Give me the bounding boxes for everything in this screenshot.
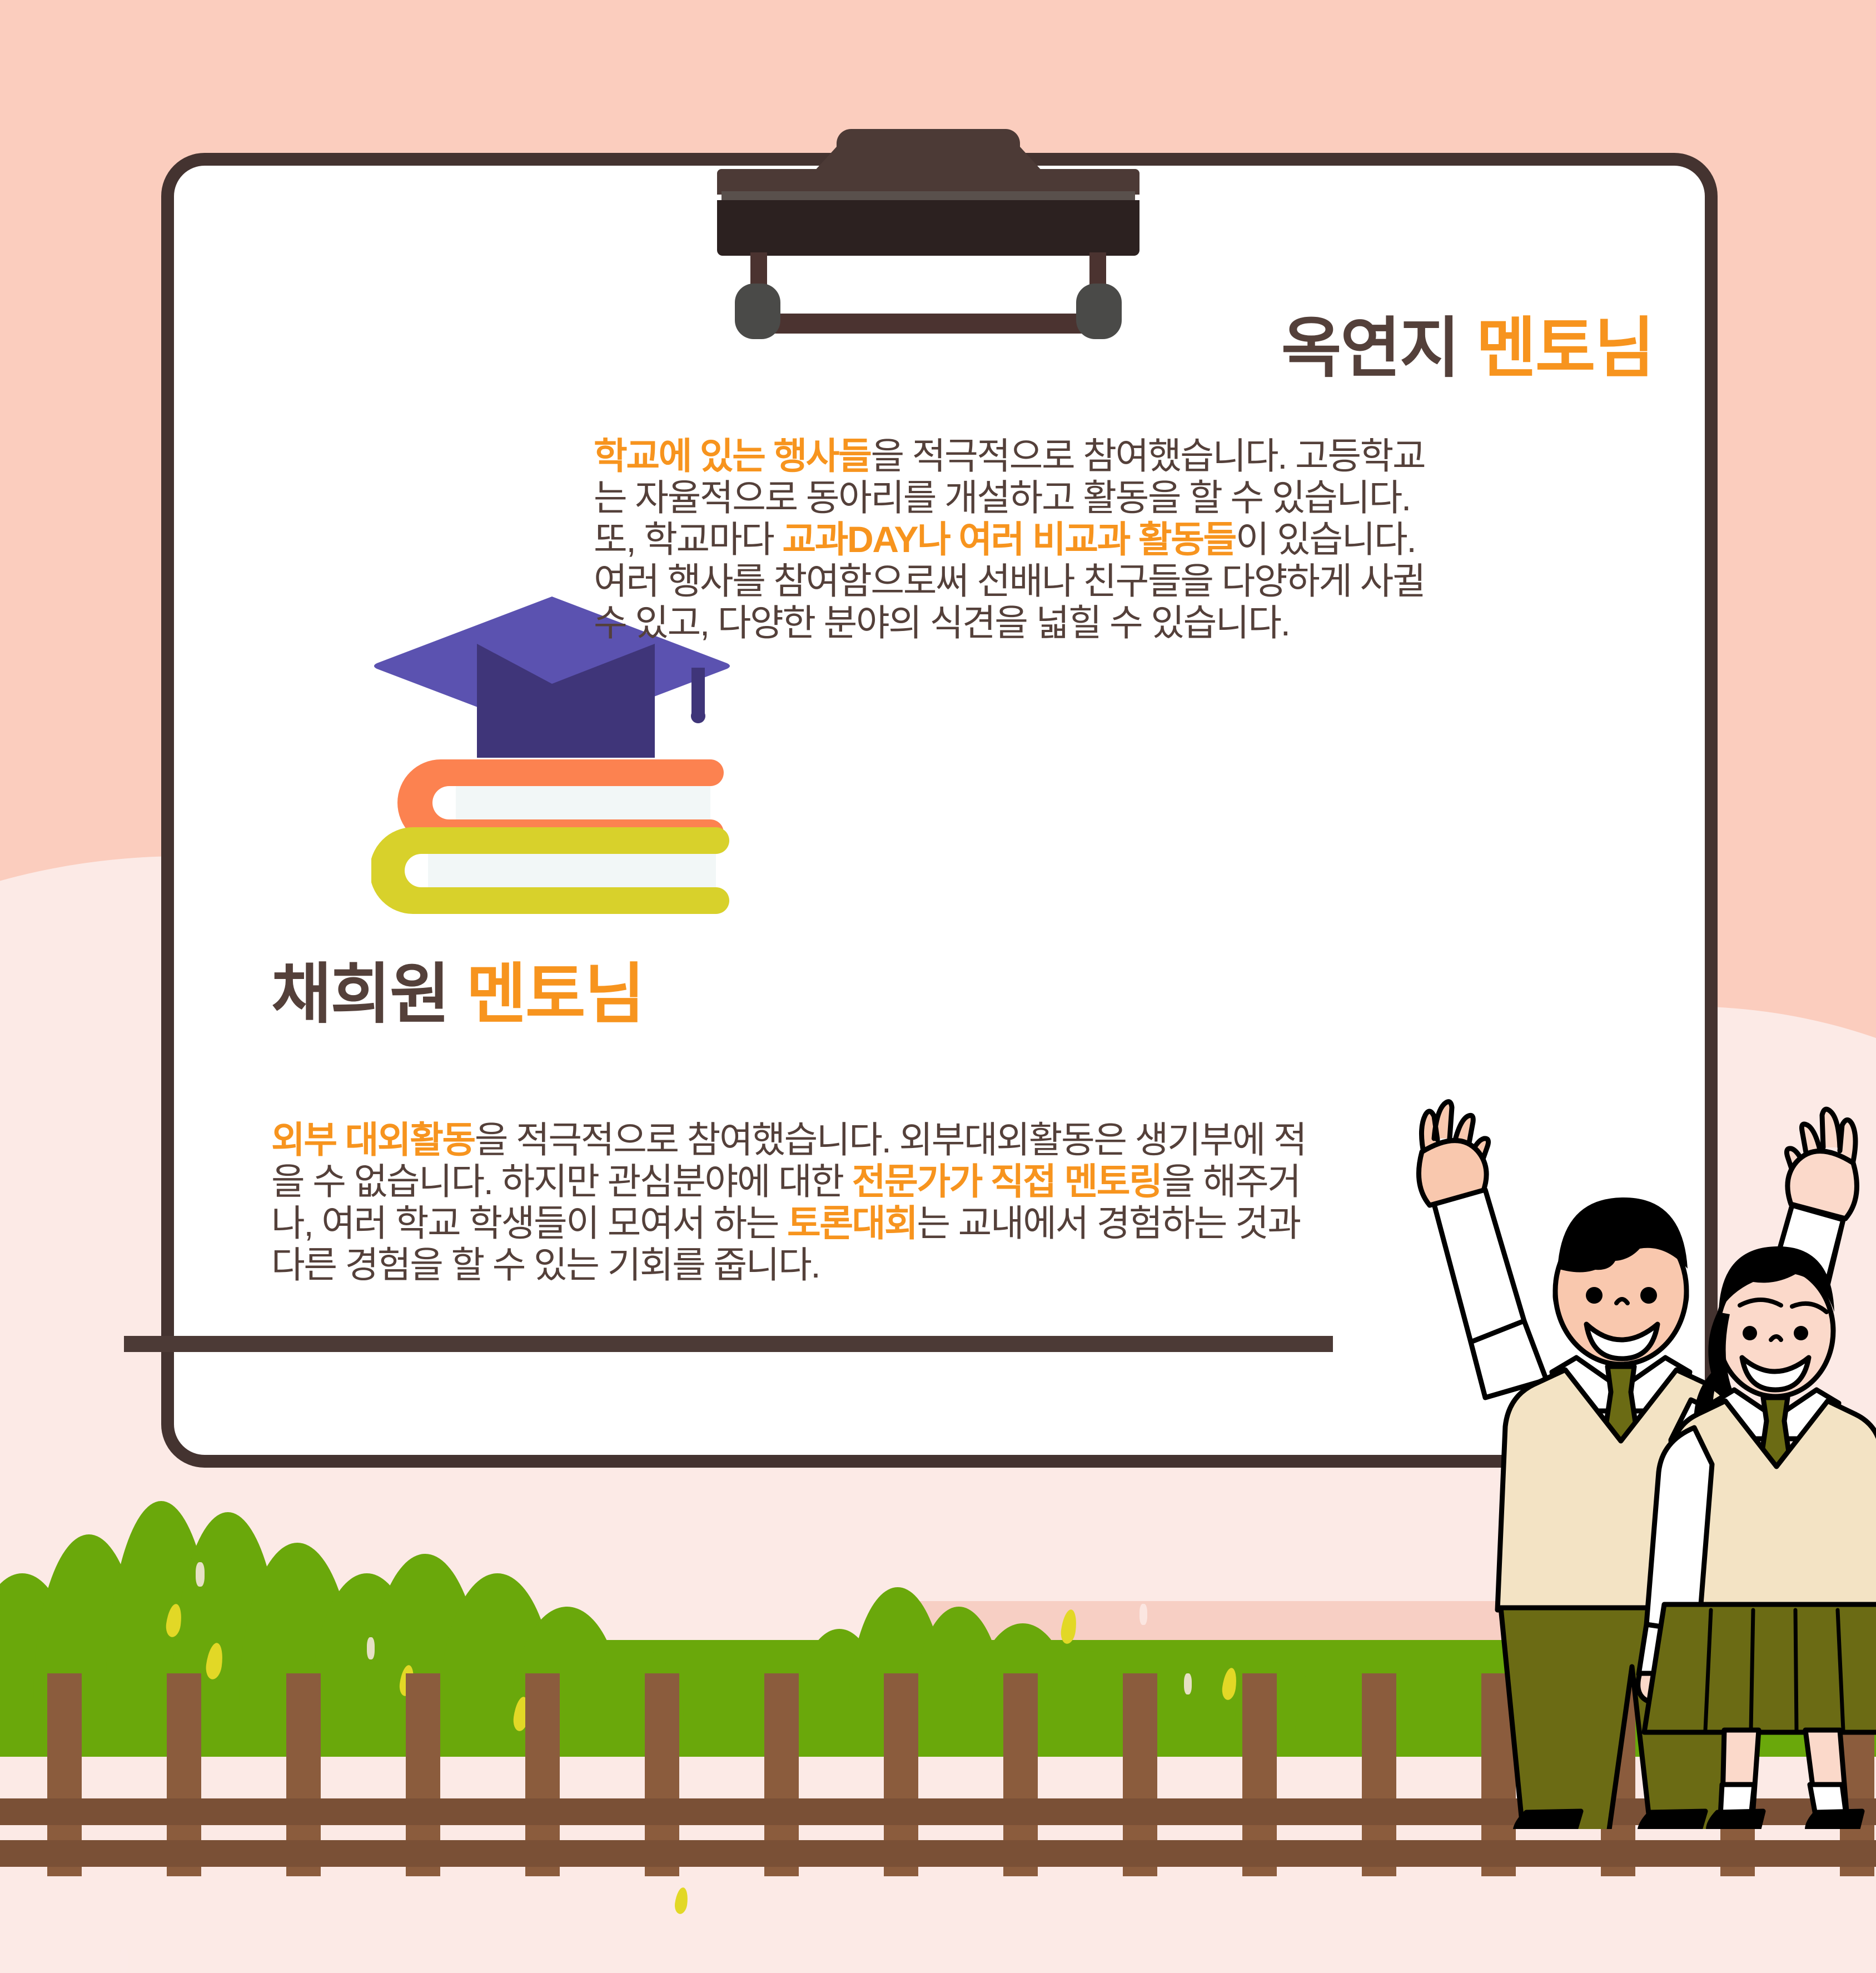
plain-text: 을 해주거: [1161, 1161, 1300, 1202]
mentor-2-title: 채희원 멘토님: [271, 962, 644, 1027]
highlighted-text: 외부 대외활동: [271, 1119, 475, 1160]
text-line: 나, 여러 학교 학생들이 모여서 하는 토론대회는 교내에서 경험하는 것과: [271, 1202, 1502, 1244]
plain-text: 는 자율적으로 동아리를 개설하고 활동을 할 수 있습니다.: [594, 477, 1410, 518]
highlighted-text: 학교에 있는 행사들: [594, 435, 870, 476]
text-line: 학교에 있는 행사들을 적극적으로 참여했습니다. 고등학교: [594, 435, 1589, 477]
mentor-1-suffix: 멘토님: [1476, 312, 1654, 385]
plain-text: 을 적극적으로 참여했습니다. 고등학교: [870, 435, 1425, 476]
text-line: 여러 행사를 참여함으로써 선배나 친구들을 다양하게 사귈: [594, 560, 1589, 602]
two-cheering-students-icon: [1351, 1073, 1876, 1829]
plain-text: 또, 학교마다: [594, 519, 782, 560]
text-line: 또, 학교마다 교과DAY나 여러 비교과 활동들이 있습니다.: [594, 519, 1589, 560]
plain-text: 여러 행사를 참여함으로써 선배나 친구들을 다양하게 사귈: [594, 560, 1425, 602]
text-line: 외부 대외활동을 적극적으로 참여했습니다. 외부대외활동은 생기부에 적: [271, 1119, 1502, 1161]
text-line: 수 있고, 다양한 분야의 식견을 넓힐 수 있습니다.: [594, 602, 1589, 644]
text-line: 다른 경험을 할 수 있는 기회를 줍니다.: [271, 1244, 1502, 1286]
highlighted-text: 토론대회: [787, 1202, 917, 1244]
mentor-1-title: 옥연지 멘토님: [1281, 316, 1654, 381]
text-line: 을 수 없습니다. 하지만 관심분야에 대한 전문가가 직접 멘토링을 해주거: [271, 1161, 1502, 1202]
clipboard-clip-icon: [717, 129, 1139, 312]
plain-text: 수 있고, 다양한 분야의 식견을 넓힐 수 있습니다.: [594, 602, 1290, 643]
mentor-2-body-text: 외부 대외활동을 적극적으로 참여했습니다. 외부대외활동은 생기부에 적을 수…: [271, 1119, 1502, 1286]
plain-text: 을 수 없습니다. 하지만 관심분야에 대한: [271, 1161, 852, 1202]
text-line: 는 자율적으로 동아리를 개설하고 활동을 할 수 있습니다.: [594, 477, 1589, 519]
highlighted-text: 교과DAY나 여러 비교과 활동들: [782, 519, 1235, 560]
mentor-2-suffix: 멘토님: [466, 958, 644, 1031]
section-divider: [124, 1336, 1333, 1352]
highlighted-text: 전문가가 직접 멘토링: [852, 1161, 1162, 1202]
mentor-2-name: 채희원: [271, 958, 449, 1031]
plain-text: 다른 경험을 할 수 있는 기회를 줍니다.: [271, 1244, 819, 1285]
mentor-1-name: 옥연지: [1281, 312, 1459, 385]
plain-text: 는 교내에서 경험하는 것과: [917, 1202, 1300, 1244]
plain-text: 을 적극적으로 참여했습니다. 외부대외활동은 생기부에 적: [475, 1119, 1306, 1160]
fence-rail-lower: [0, 1840, 1876, 1867]
plain-text: 이 있습니다.: [1236, 519, 1415, 560]
plain-text: 나, 여러 학교 학생들이 모여서 하는: [271, 1202, 787, 1244]
mentor-1-body-text: 학교에 있는 행사들을 적극적으로 참여했습니다. 고등학교는 자율적으로 동아…: [594, 435, 1589, 644]
